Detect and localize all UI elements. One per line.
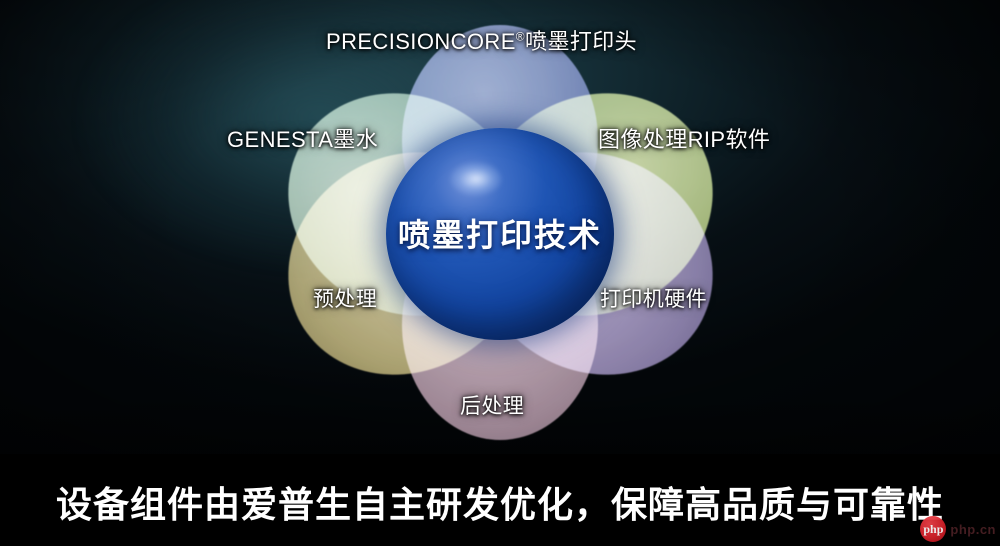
registered-trademark-icon: ® <box>516 30 525 44</box>
label-printhead-suffix: 喷墨打印头 <box>525 29 637 54</box>
label-ink: GENESTA墨水 <box>227 122 378 154</box>
label-printhead-main: PRECISIONCORE <box>326 29 516 54</box>
petal-diagram: 喷墨打印技术 PRECISIONCORE®喷墨打印头 GENESTA墨水 图像处… <box>0 0 1000 460</box>
label-printhead: PRECISIONCORE®喷墨打印头 <box>326 24 637 56</box>
label-posttreat: 后处理 <box>460 390 524 420</box>
watermark-text: php.cn <box>950 522 996 537</box>
slide-canvas: 喷墨打印技术 PRECISIONCORE®喷墨打印头 GENESTA墨水 图像处… <box>0 0 1000 546</box>
label-hardware: 打印机硬件 <box>600 283 707 313</box>
label-rip: 图像处理RIP软件 <box>598 122 770 154</box>
watermark: php php.cn <box>920 516 996 542</box>
label-pretreat: 预处理 <box>313 283 377 313</box>
core-specular-highlight <box>450 162 502 196</box>
core-sphere: 喷墨打印技术 <box>386 128 614 340</box>
caption-text: 设备组件由爱普生自主研发优化，保障高品质与可靠性 <box>0 476 1000 528</box>
php-logo-icon: php <box>920 516 946 542</box>
core-label: 喷墨打印技术 <box>386 210 614 256</box>
